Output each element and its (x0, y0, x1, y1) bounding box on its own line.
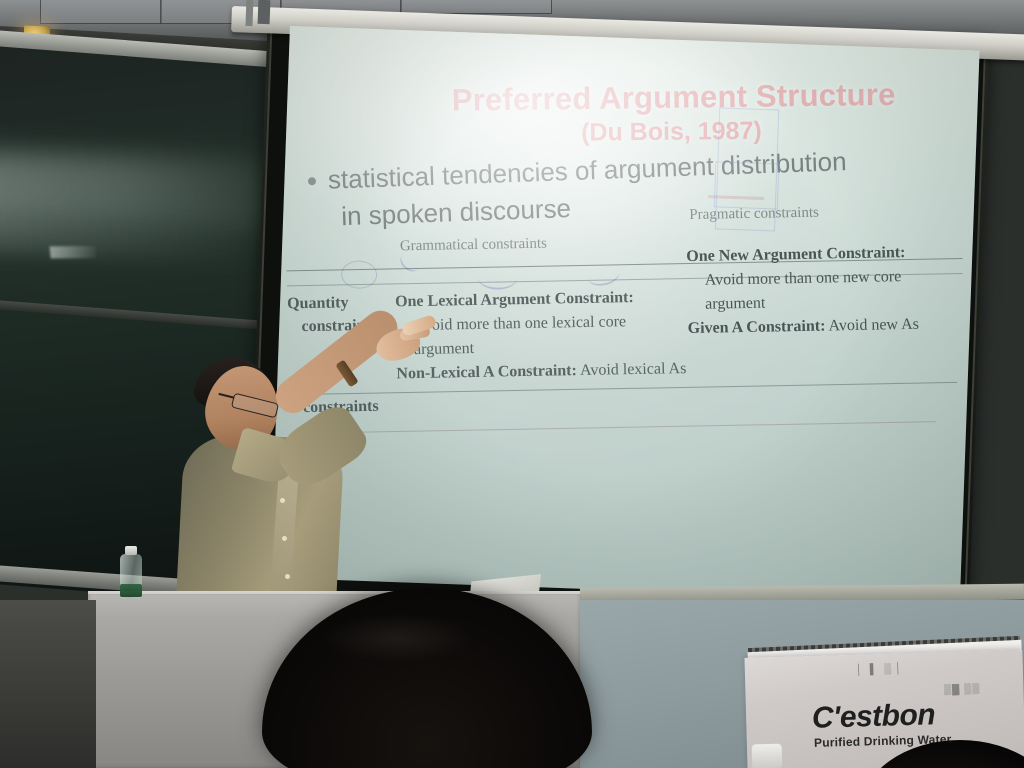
carton-brand-label: C'estbon (812, 698, 936, 735)
screen-bracket (258, 0, 271, 24)
constraint-desc: Avoid lexical As (580, 360, 687, 379)
shirt-button (285, 574, 290, 579)
ceiling-tile (40, 0, 162, 24)
row-label-line1: Quantity (287, 294, 349, 312)
constraint-entry: One Lexical Argument Constraint: Avoid m… (395, 285, 688, 362)
constraint-desc: Avoid more than one new core argument (687, 264, 964, 317)
chalkboard-glare (0, 151, 294, 231)
chalk-residue (50, 246, 97, 258)
table-col-header-grammatical: Grammatical constraints (392, 233, 685, 268)
shirt-button (282, 536, 287, 541)
water-bottle (120, 546, 142, 598)
bullet-dot-icon (308, 177, 316, 185)
carton-print-mark: │▐ ▒│ (856, 663, 906, 676)
constraint-name: Given A Constraint: (688, 318, 826, 338)
carton-print-mark: ▒▓ ▒▒ (944, 683, 981, 695)
slide-title: Preferred Argument Structure (373, 78, 973, 119)
foreground-shadow (0, 600, 96, 768)
constraint-name: One Lexical Argument Constraint: (395, 289, 634, 310)
cup-beside-carton (752, 744, 783, 768)
table-col-header-empty (286, 238, 392, 270)
screen-bracket (245, 0, 253, 26)
lecture-room-photo: Preferred Argument Structure (Du Bois, 1… (0, 0, 1024, 768)
ink-scribble (714, 161, 780, 209)
constraint-name: One New Argument Constraint: (686, 244, 905, 265)
bottle-cap (125, 546, 137, 555)
constraint-desc: Avoid new As (828, 316, 919, 335)
table-cell-pragmatic: One New Argument Constraint: Avoid more … (686, 240, 964, 372)
presenter (170, 352, 430, 612)
table-cell-grammatical: One Lexical Argument Constraint: Avoid m… (395, 285, 689, 417)
bottle-label (120, 584, 142, 597)
constraint-desc: Avoid more than one lexical core argumen… (395, 309, 688, 362)
constraint-entry: One New Argument Constraint: Avoid more … (686, 240, 963, 317)
shirt-button (280, 498, 285, 503)
constraint-entry: Given A Constraint: Avoid new As (687, 312, 963, 341)
table-col-header-pragmatic: Pragmatic constraints (683, 202, 962, 237)
constraint-entry: Non-Lexical A Constraint: Avoid lexical … (396, 357, 688, 386)
